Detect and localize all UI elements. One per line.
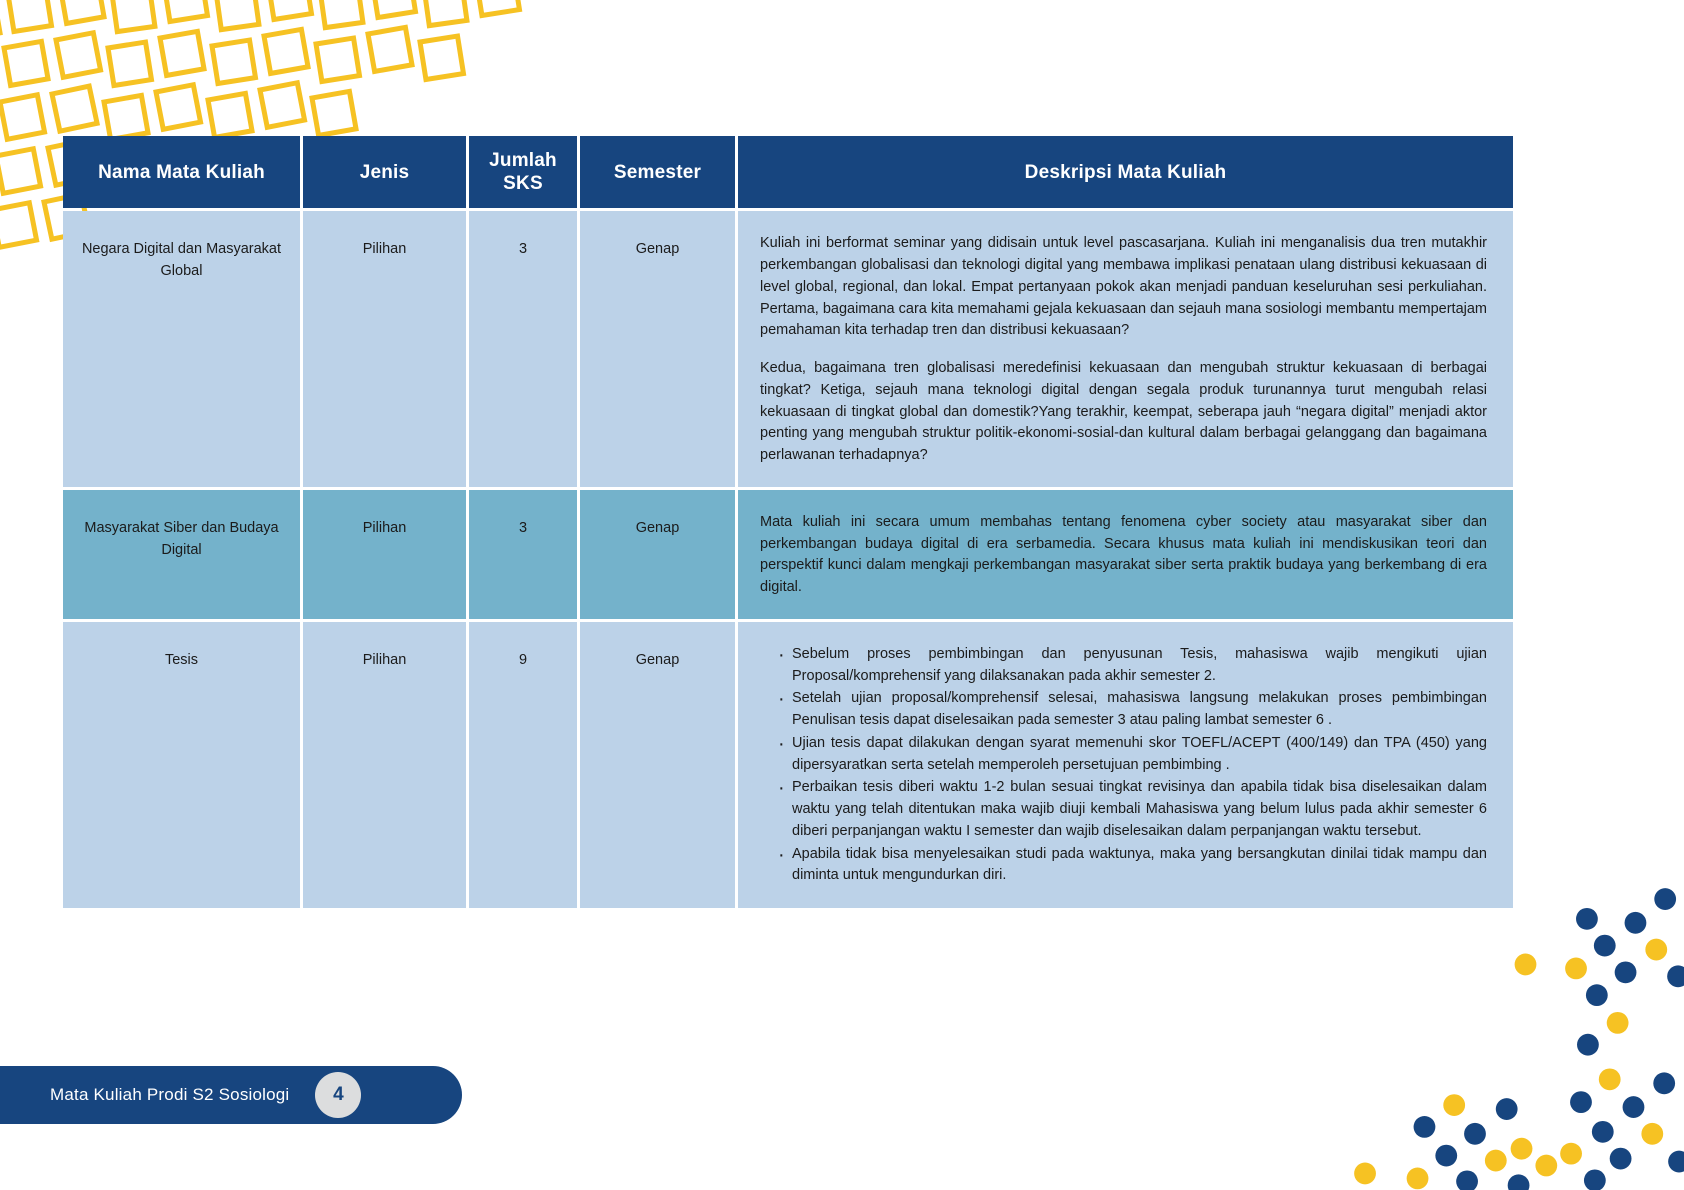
- description-paragraph: Kuliah ini berformat seminar yang didisa…: [760, 233, 1487, 342]
- cell-semester: Genap: [580, 490, 735, 619]
- cell-jumlah-sks: 3: [469, 211, 577, 487]
- list-item: Ujian tesis dapat dilakukan dengan syara…: [778, 733, 1487, 777]
- list-item: Perbaikan tesis diberi waktu 1-2 bulan s…: [778, 777, 1487, 842]
- table-header-row: Nama Mata Kuliah Jenis Jumlah SKS Semest…: [63, 136, 1513, 208]
- list-item: Apabila tidak bisa menyelesaikan studi p…: [778, 844, 1487, 888]
- list-item: Sebelum proses pembimbingan dan penyusun…: [778, 644, 1487, 688]
- cell-nama-mata-kuliah: Masyarakat Siber dan Budaya Digital: [63, 490, 300, 619]
- column-header-jenis: Jenis: [303, 136, 466, 208]
- cell-semester: Genap: [580, 622, 735, 908]
- description-paragraph: Mata kuliah ini secara umum membahas ten…: [760, 512, 1487, 599]
- cell-jenis: Pilihan: [303, 622, 466, 908]
- cell-jenis: Pilihan: [303, 211, 466, 487]
- cell-deskripsi: Kuliah ini berformat seminar yang didisa…: [738, 211, 1513, 487]
- table-row: Negara Digital dan Masyarakat Global Pil…: [63, 211, 1513, 487]
- table-row: Tesis Pilihan 9 Genap Sebelum proses pem…: [63, 622, 1513, 908]
- column-header-jumlah-sks: Jumlah SKS: [469, 136, 577, 208]
- table-row: Masyarakat Siber dan Budaya Digital Pili…: [63, 490, 1513, 619]
- course-table-container: Nama Mata Kuliah Jenis Jumlah SKS Semest…: [60, 133, 1516, 911]
- cell-jumlah-sks: 3: [469, 490, 577, 619]
- column-header-semester: Semester: [580, 136, 735, 208]
- footer-bar: Mata Kuliah Prodi S2 Sosiologi 4: [0, 1066, 462, 1124]
- cell-jenis: Pilihan: [303, 490, 466, 619]
- page-number-badge: 4: [315, 1072, 361, 1118]
- cell-jumlah-sks: 9: [469, 622, 577, 908]
- column-header-deskripsi: Deskripsi Mata Kuliah: [738, 136, 1513, 208]
- cell-nama-mata-kuliah: Tesis: [63, 622, 300, 908]
- course-table: Nama Mata Kuliah Jenis Jumlah SKS Semest…: [60, 133, 1516, 911]
- cell-deskripsi: Mata kuliah ini secara umum membahas ten…: [738, 490, 1513, 619]
- cell-deskripsi: Sebelum proses pembimbingan dan penyusun…: [738, 622, 1513, 908]
- description-bullet-list: Sebelum proses pembimbingan dan penyusun…: [760, 644, 1487, 887]
- cell-nama-mata-kuliah: Negara Digital dan Masyarakat Global: [63, 211, 300, 487]
- footer-label: Mata Kuliah Prodi S2 Sosiologi: [50, 1085, 289, 1105]
- description-paragraph: Kedua, bagaimana tren globalisasi merede…: [760, 358, 1487, 467]
- column-header-nama-mata-kuliah: Nama Mata Kuliah: [63, 136, 300, 208]
- list-item: Setelah ujian proposal/komprehensif sele…: [778, 688, 1487, 732]
- jumlah-sks-line1: Jumlah: [489, 150, 557, 171]
- jumlah-sks-line2: SKS: [503, 173, 543, 194]
- table-body: Negara Digital dan Masyarakat Global Pil…: [63, 211, 1513, 908]
- cell-semester: Genap: [580, 211, 735, 487]
